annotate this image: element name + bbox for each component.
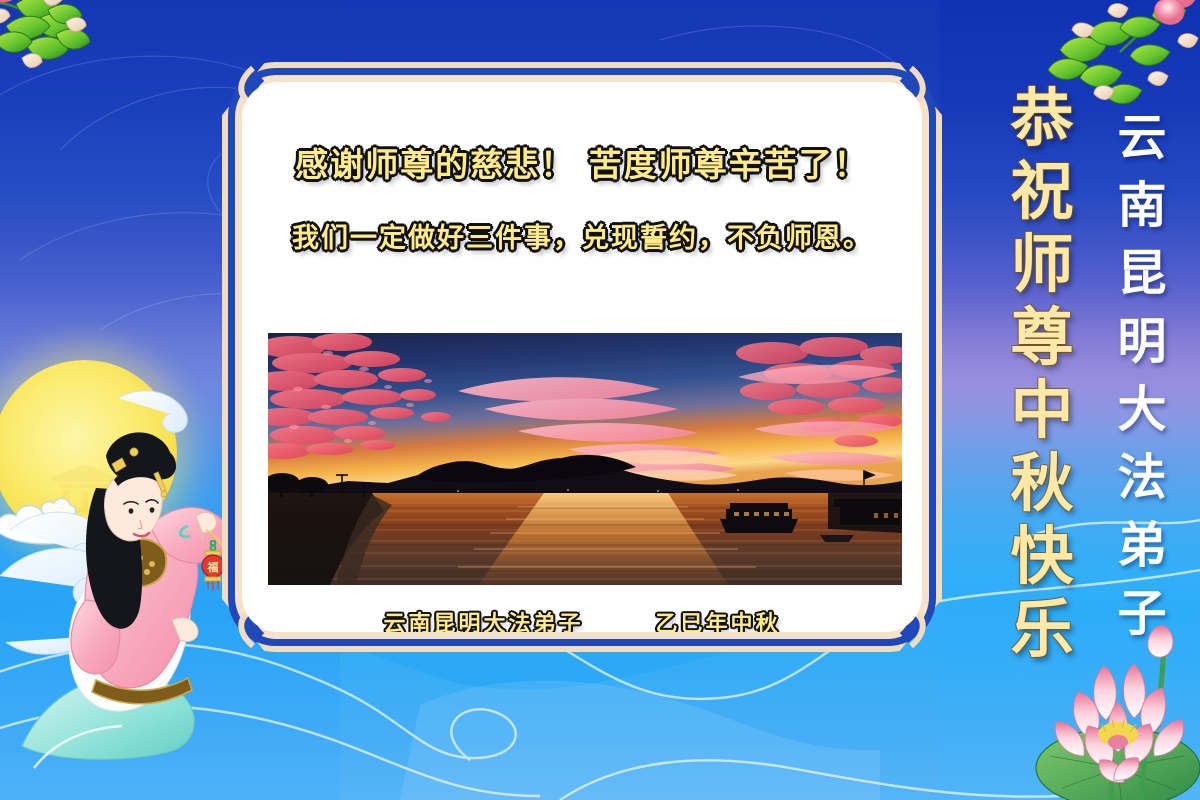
card-subline: 我们一定做好三件事，兑现誓约，不负师恩。 <box>292 216 872 255</box>
greeting-card-canvas: 福 <box>0 0 1200 800</box>
vertical-banner-main: 恭 祝 师 尊 中 秋 快 乐 <box>996 82 1088 666</box>
banner-main-char-3: 尊 <box>1011 301 1074 374</box>
card-headline: 感谢师尊的慈悲！ 苦度师尊辛苦了！ <box>295 138 869 186</box>
banner-sub-char-7: 子 <box>1117 580 1166 648</box>
banner-sub-char-5: 法 <box>1117 444 1166 512</box>
signature-author: 云南昆明大法弟子 <box>383 606 583 632</box>
card-content: 感谢师尊的慈悲！ 苦度师尊辛苦了！ 我们一定做好三件事，兑现誓约，不负师恩。 <box>242 82 922 632</box>
banner-sub-char-2: 昆 <box>1117 240 1166 308</box>
banner-sub-char-0: 云 <box>1117 104 1166 172</box>
banner-main-char-1: 祝 <box>1011 155 1074 228</box>
banner-main-char-4: 中 <box>1011 374 1074 447</box>
lantern-fu-char: 福 <box>207 560 219 574</box>
greeting-card: 感谢师尊的慈悲！ 苦度师尊辛苦了！ 我们一定做好三件事，兑现誓约，不负师恩。 <box>222 62 942 652</box>
banner-sub-char-1: 南 <box>1117 172 1166 240</box>
sunset-lake-photo <box>268 333 902 585</box>
banner-sub-char-4: 大 <box>1117 376 1166 444</box>
banner-main-char-0: 恭 <box>1011 82 1074 155</box>
banner-sub-char-6: 弟 <box>1117 512 1166 580</box>
banner-sub-char-3: 明 <box>1117 308 1166 376</box>
signature-date: 乙巳年中秋 <box>656 606 781 632</box>
card-inner-surface: 感谢师尊的慈悲！ 苦度师尊辛苦了！ 我们一定做好三件事，兑现誓约，不负师恩。 <box>242 82 922 632</box>
banner-main-char-5: 秋 <box>1011 447 1074 520</box>
banner-main-char-2: 师 <box>1011 228 1074 301</box>
banner-main-char-7: 乐 <box>1011 593 1074 666</box>
vertical-banner-sub: 云 南 昆 明 大 法 弟 子 <box>1106 104 1178 648</box>
banner-main-char-6: 快 <box>1011 520 1074 593</box>
peony-branch-icon <box>0 0 162 102</box>
signature-row: 云南昆明大法弟子 乙巳年中秋 <box>242 606 922 632</box>
